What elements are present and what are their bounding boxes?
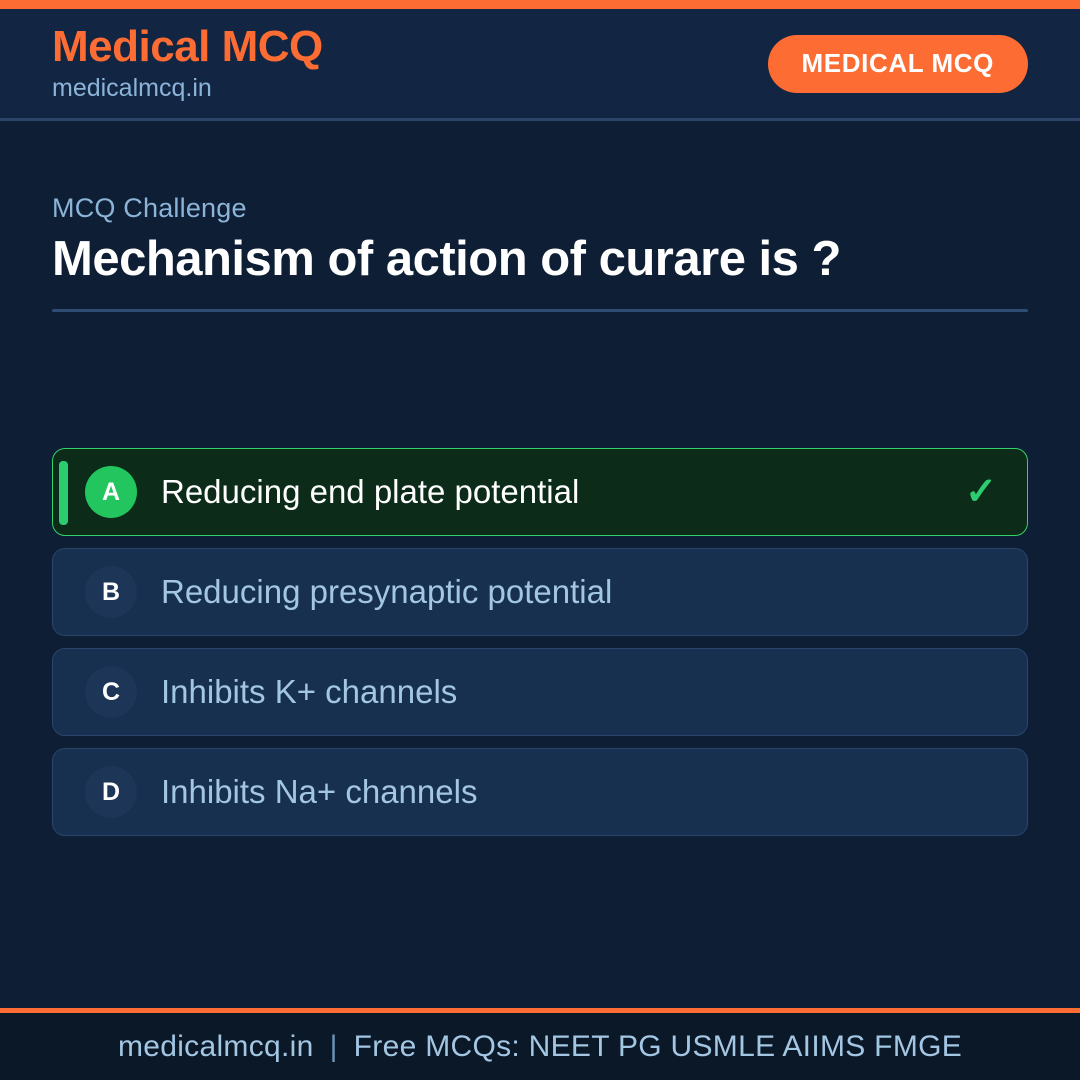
option-b[interactable]: B Reducing presynaptic potential ✓ bbox=[52, 548, 1028, 636]
option-b-letter-badge: B bbox=[85, 566, 137, 618]
brand-block: Medical MCQ medicalmcq.in bbox=[52, 24, 323, 105]
footer-links-label: Free MCQs: NEET PG USMLE AIIMS FMGE bbox=[354, 1030, 962, 1063]
option-d[interactable]: D Inhibits Na+ channels ✓ bbox=[52, 748, 1028, 836]
question-eyebrow: MCQ Challenge bbox=[52, 192, 1028, 226]
footer-separator: | bbox=[314, 1030, 354, 1063]
option-d-label: Inhibits Na+ channels bbox=[161, 772, 477, 812]
question-divider bbox=[52, 309, 1028, 312]
question-title: Mechanism of action of curare is ? bbox=[52, 232, 1028, 287]
option-c-label: Inhibits K+ channels bbox=[161, 672, 457, 712]
option-a-label: Reducing end plate potential bbox=[161, 472, 579, 512]
check-icon: ✓ bbox=[965, 473, 997, 511]
footer-site[interactable]: medicalmcq.in bbox=[118, 1030, 314, 1063]
question-block: MCQ Challenge Mechanism of action of cur… bbox=[52, 192, 1028, 312]
options-list: A Reducing end plate potential ✓ B Reduc… bbox=[52, 448, 1028, 836]
header-badge: MEDICAL MCQ bbox=[768, 35, 1028, 93]
option-c-letter-badge: C bbox=[85, 666, 137, 718]
page-footer: medicalmcq.in|Free MCQs: NEET PG USMLE A… bbox=[0, 1008, 1080, 1080]
footer-text: medicalmcq.in|Free MCQs: NEET PG USMLE A… bbox=[118, 1030, 962, 1064]
option-a-letter-badge: A bbox=[85, 466, 137, 518]
option-a[interactable]: A Reducing end plate potential ✓ bbox=[52, 448, 1028, 536]
correct-accent-bar bbox=[59, 461, 68, 525]
option-d-letter-badge: D bbox=[85, 766, 137, 818]
option-b-label: Reducing presynaptic potential bbox=[161, 572, 612, 612]
brand-subtitle: medicalmcq.in bbox=[52, 72, 323, 105]
page-header: Medical MCQ medicalmcq.in MEDICAL MCQ bbox=[0, 9, 1080, 121]
top-accent-strip bbox=[0, 0, 1080, 9]
brand-title: Medical MCQ bbox=[52, 24, 323, 70]
option-c[interactable]: C Inhibits K+ channels ✓ bbox=[52, 648, 1028, 736]
